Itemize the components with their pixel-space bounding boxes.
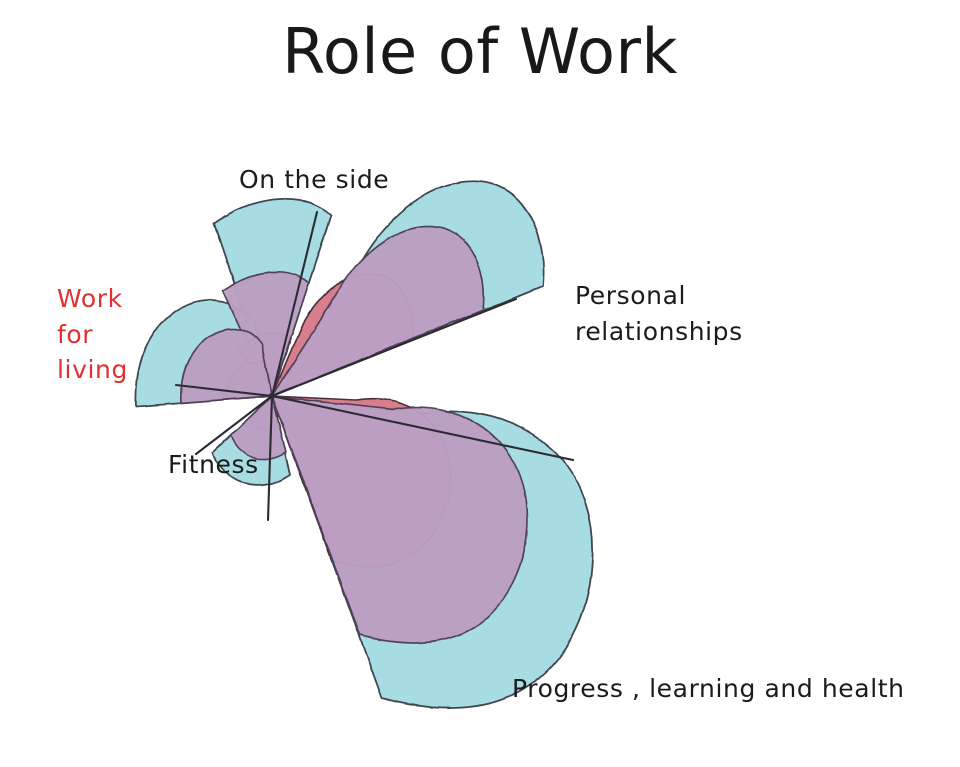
axis-label-personal-relationships: Personal relationships [575,278,743,349]
chart-center-hub [269,393,275,399]
axis-label-progress-learning-health: Progress , learning and health [512,671,905,707]
axis-label-on-the-side: On the side [239,162,389,198]
petal-chart [0,0,960,767]
overlap-progress [272,396,527,643]
axis-label-fitness: Fitness [168,447,259,483]
axis-label-work-for-living: Work for living [57,281,128,388]
series-overlap-group [181,227,528,643]
diagram-canvas: Role of Work [0,0,960,767]
